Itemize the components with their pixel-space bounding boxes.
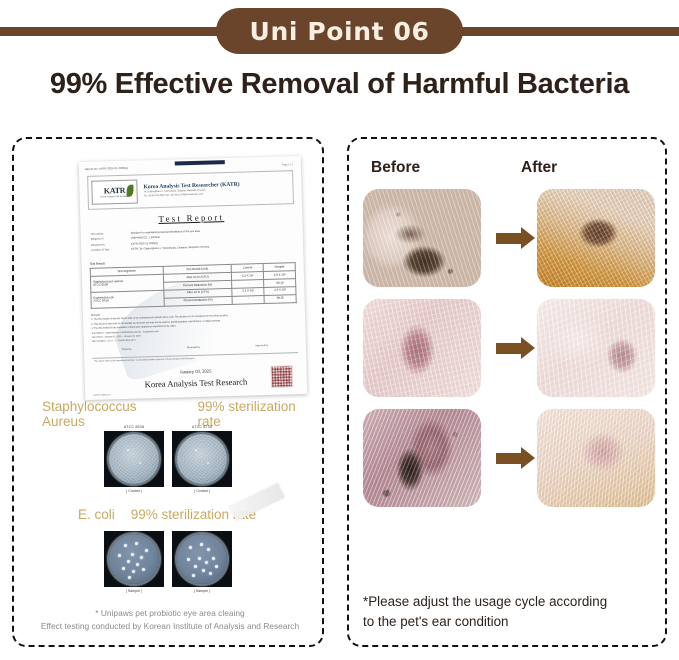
caption-organism-label: E. coli xyxy=(78,507,115,522)
agar-plate-control xyxy=(109,434,159,484)
arrow-container xyxy=(481,453,537,464)
lab-footnote: * Unipaws pet probiotic eye area cleaing… xyxy=(24,607,316,633)
petri-dish-cell: ATCC 8739 ( Control ) xyxy=(172,425,232,493)
document-report-no: Report No. KATR-2025-01-0038(1) xyxy=(85,167,128,171)
document-title: Test Report xyxy=(80,210,302,226)
arrow-container xyxy=(481,233,537,244)
petri-dish-group-sample: ( Sample ) xyxy=(104,531,232,593)
petri-dish-photo xyxy=(172,431,232,487)
ear-photo-before-1 xyxy=(363,189,481,287)
infographic-page: Uni Point 06 99% Effective Removal of Ha… xyxy=(0,0,679,660)
ear-photo-after-1 xyxy=(537,189,655,287)
katr-logo: KATR Korea Analysis Test Research xyxy=(91,180,138,205)
test-report-document: Report No. KATR-2025-01-0038(1) Page 1 /… xyxy=(79,156,308,400)
dish-caption: ( Sample ) xyxy=(104,589,164,593)
leaf-icon xyxy=(126,185,133,197)
signature-tested-by: Tested by xyxy=(122,349,132,351)
test-result-table: Test Organism Test Result (Unit) Control… xyxy=(90,262,297,309)
after-column-label: After xyxy=(521,159,557,177)
cell-control: - xyxy=(232,295,264,304)
before-after-row xyxy=(363,187,655,289)
signature-reviewed-by: Reviewed by xyxy=(187,347,200,349)
arrow-right-icon xyxy=(496,343,522,354)
cell-organism: Escherichia coli ATCC 8739 xyxy=(91,290,164,308)
ear-photo-before-3 xyxy=(363,409,481,507)
cell-metric: Percent Reduction (%) xyxy=(164,296,233,306)
arrow-right-icon xyxy=(496,453,522,464)
dish-strain-label: ATCC 8739 xyxy=(172,425,232,429)
footnote-line-1: * Unipaws pet probiotic eye area cleaing xyxy=(24,607,316,620)
petri-dish-cell: ATCC 6538 ( Control ) xyxy=(104,425,164,493)
before-after-row xyxy=(363,407,655,509)
document-form-code: KATR-F-05(Rev.3) xyxy=(93,394,110,396)
test-result-section-label: Test Result xyxy=(90,261,105,265)
document-metadata: Test Article Sanitizer for maintaining e… xyxy=(91,226,294,253)
usage-note-line-2: to the pet's ear condition xyxy=(363,612,653,631)
tape-decoration xyxy=(229,483,285,521)
usage-note: *Please adjust the usage cycle according… xyxy=(363,592,653,631)
petri-dish-group-control: ATCC 6538 ( Control ) ATCC 8739 ( Contro… xyxy=(104,425,232,493)
agar-plate-control xyxy=(177,434,227,484)
signature-approved-by: Approved by xyxy=(255,345,268,347)
katr-logo-subtext: Korea Analysis Test Research xyxy=(100,196,129,199)
ear-photo-after-2 xyxy=(537,299,655,397)
page-title: 99% Effective Removal of Harmful Bacteri… xyxy=(0,68,679,101)
ear-photo-before-2 xyxy=(363,299,481,397)
petri-dish-photo xyxy=(172,531,232,587)
before-after-headers: Before After xyxy=(349,159,665,177)
header-banner: Uni Point 06 xyxy=(0,8,679,54)
lab-evidence-panel: Report No. KATR-2025-01-0038(1) Page 1 /… xyxy=(12,137,324,647)
banner-pill: Uni Point 06 xyxy=(216,8,464,54)
before-after-panel: Before After *Please adjust the u xyxy=(347,137,667,647)
before-column-label: Before xyxy=(371,159,491,177)
metadata-key: Location of Test xyxy=(91,247,125,253)
katr-logo-text: KATR xyxy=(104,186,126,196)
banner-title: Uni Point 06 xyxy=(250,17,430,46)
dish-strain-label: ATCC 6538 xyxy=(104,425,164,429)
qr-code-icon xyxy=(270,365,293,388)
usage-note-line-1: *Please adjust the usage cycle according xyxy=(363,592,653,611)
before-after-row xyxy=(363,297,655,399)
footnote-line-2: Effect testing conducted by Korean Insti… xyxy=(24,620,316,633)
arrow-container xyxy=(481,343,537,354)
agar-plate-sample xyxy=(177,534,227,584)
dish-caption: ( Control ) xyxy=(104,489,164,493)
agar-plate-sample xyxy=(109,534,159,584)
document-page-number: Page 1 / 1 xyxy=(282,163,293,166)
arrow-right-icon xyxy=(496,233,522,244)
cell-sample: 99.25 xyxy=(264,294,296,303)
document-signature-row: Tested by Reviewed by Approved by xyxy=(94,344,296,352)
letterhead-text: Korea Analysis Test Researcher (KATR) 34… xyxy=(143,181,240,199)
dish-caption: ( Control ) xyxy=(172,489,232,493)
petri-dish-photo xyxy=(104,531,164,587)
organism-strain: ATCC 6538 xyxy=(93,282,162,288)
organism-strain: ATCC 8739 xyxy=(94,298,163,304)
petri-dish-photo xyxy=(104,431,164,487)
document-letterhead: KATR Korea Analysis Test Research Korea … xyxy=(87,170,294,210)
dish-caption: ( Sample ) xyxy=(172,589,232,593)
petri-dish-cell: ( Sample ) xyxy=(172,531,232,593)
caption-ecoli: E. coli 99% sterilization rate xyxy=(78,507,256,522)
petri-dish-cell: ( Sample ) xyxy=(104,531,164,593)
ear-photo-after-3 xyxy=(537,409,655,507)
